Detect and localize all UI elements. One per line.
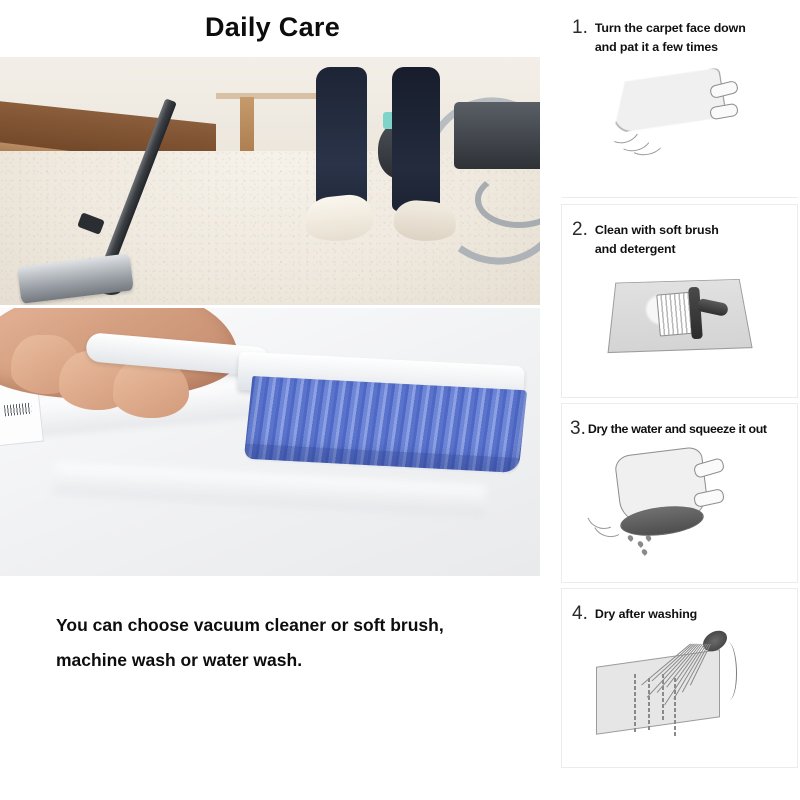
- steps-panel: 1. Turn the carpet face down and pat it …: [561, 0, 800, 800]
- drip-line: [634, 674, 636, 732]
- vacuuming-carpet-photo: [0, 57, 540, 305]
- step-1-header: 1. Turn the carpet face down and pat it …: [562, 3, 797, 57]
- person-left-leg: [316, 67, 367, 206]
- step-3-number: 3.: [570, 420, 586, 437]
- step-1-text: Turn the carpet face down and pat it a f…: [595, 19, 746, 57]
- drip-line: [648, 678, 650, 730]
- step-4-text: Dry after washing: [595, 605, 697, 624]
- step-2-text: Clean with soft brush and detergent: [595, 221, 719, 259]
- water-droplet: [641, 548, 649, 556]
- water-droplet: [627, 534, 635, 542]
- page-title: Daily Care: [0, 12, 545, 43]
- vacuum-canister-body: [454, 102, 540, 169]
- shower-pipe: [720, 642, 737, 700]
- drip-line: [662, 674, 664, 720]
- soft-brush-photo: [0, 308, 540, 576]
- step-card-4[interactable]: 4. Dry after washing: [561, 588, 798, 768]
- step-4-header: 4. Dry after washing: [562, 589, 797, 624]
- person-right-leg: [392, 67, 441, 211]
- step-3-text: Dry the water and squeeze it out: [588, 420, 767, 439]
- mat-brush-icon: [562, 259, 797, 371]
- step-1-number: 1.: [572, 19, 588, 36]
- step-card-3[interactable]: 3. Dry the water and squeeze it out: [561, 403, 798, 583]
- brush-bristles: [244, 376, 528, 473]
- step-card-1[interactable]: 1. Turn the carpet face down and pat it …: [561, 2, 798, 198]
- water-droplet: [637, 540, 645, 548]
- step-2-header: 2. Clean with soft brush and detergent: [562, 205, 797, 259]
- step-3-header: 3. Dry the water and squeeze it out: [562, 404, 797, 439]
- carpet-shake-icon: [562, 57, 797, 169]
- step-card-2[interactable]: 2. Clean with soft brush and detergent: [561, 204, 798, 398]
- step-2-number: 2.: [572, 221, 588, 238]
- care-caption: You can choose vacuum cleaner or soft br…: [56, 608, 526, 678]
- drip-line: [674, 678, 676, 736]
- shower-rinse-icon: [562, 624, 797, 750]
- carpet-squeeze-icon: [562, 439, 797, 565]
- step-4-number: 4.: [572, 605, 588, 622]
